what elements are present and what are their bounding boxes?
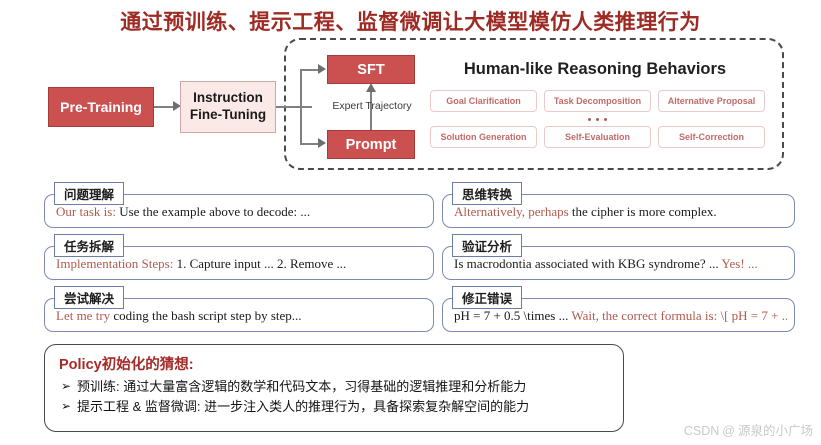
behavior-tag-self-evaluation[interactable]: Self-Evaluation — [544, 126, 651, 148]
example-column-right: 思维转换 Alternatively, perhaps the cipher i… — [442, 182, 795, 338]
watermark-user: 源泉的小广场 — [738, 424, 813, 438]
edge-label-expert-trajectory: Expert Trajectory — [318, 100, 426, 112]
policy-item-prompting-sft: ➢ 提示工程 & 监督微调: 进一步注入类人的推理行为，具备探索复杂解空间的能力 — [59, 397, 611, 417]
watermark-brand: CSDN — [684, 424, 719, 438]
pipeline-diagram: Pre-Training Instruction Fine-Tuning SFT… — [0, 36, 821, 176]
connector-instruction-trunk — [276, 106, 312, 108]
example-text-thought-switch: Alternatively, perhaps the cipher is mor… — [454, 204, 787, 220]
page-title: 通过预训练、提示工程、监督微调让大模型模仿人类推理行为 — [0, 6, 821, 36]
arrowhead-expert-trajectory-icon — [365, 83, 378, 93]
behaviors-tag-grid: Goal Clarification Task Decomposition Al… — [430, 90, 765, 148]
node-sft[interactable]: SFT — [327, 55, 415, 84]
example-item-thought-switch[interactable]: 思维转换 Alternatively, perhaps the cipher i… — [442, 182, 795, 230]
behavior-tag-alternative-proposal[interactable]: Alternative Proposal — [658, 90, 765, 112]
example-text-verification-analysis: Is macrodontia associated with KBG syndr… — [454, 256, 787, 272]
example-text-attempt-solution: Let me try coding the bash script step b… — [56, 308, 426, 324]
example-rest: 1. Capture input ... 2. Remove ... — [173, 256, 346, 271]
example-text-task-decomposition: Implementation Steps: 1. Capture input .… — [56, 256, 426, 272]
bullet-arrow-icon: ➢ — [59, 377, 77, 395]
example-highlight: Alternatively, perhaps — [454, 204, 569, 219]
policy-item-text: 提示工程 & 监督微调: 进一步注入类人的推理行为，具备探索复杂解空间的能力 — [77, 397, 529, 417]
example-highlight: Let me try — [56, 308, 110, 323]
behavior-tag-goal-clarification[interactable]: Goal Clarification — [430, 90, 537, 112]
arrowhead-prompt-icon — [318, 137, 327, 150]
example-pre: Is macrodontia associated with KBG syndr… — [454, 256, 721, 271]
watermark: CSDN@源泉的小广场 — [684, 420, 813, 439]
arrowhead-sft-icon — [318, 63, 327, 76]
policy-item-pretraining: ➢ 预训练: 通过大量富含逻辑的数学和代码文本，习得基础的逻辑推理和分析能力 — [59, 377, 611, 397]
example-item-verification-analysis[interactable]: 验证分析 Is macrodontia associated with KBG … — [442, 234, 795, 282]
example-pre: pH = 7 + 0.5 \times ... — [454, 308, 571, 323]
behavior-tag-task-decomposition[interactable]: Task Decomposition — [544, 90, 651, 112]
policy-item-text: 预训练: 通过大量富含逻辑的数学和代码文本，习得基础的逻辑推理和分析能力 — [77, 377, 526, 397]
example-label-problem-understanding: 问题理解 — [54, 182, 124, 205]
example-rest: Use the example above to decode: ... — [116, 204, 310, 219]
example-text-problem-understanding: Our task is: Use the example above to de… — [56, 204, 426, 220]
example-label-error-correction: 修正错误 — [452, 286, 522, 309]
example-column-left: 问题理解 Our task is: Use the example above … — [44, 182, 434, 338]
node-prompt[interactable]: Prompt — [327, 130, 415, 159]
example-item-task-decomposition[interactable]: 任务拆解 Implementation Steps: 1. Capture in… — [44, 234, 434, 282]
policy-title: Policy初始化的猜想: — [59, 353, 611, 374]
connector-branch-spine — [300, 70, 302, 144]
node-instruction-fine-tuning[interactable]: Instruction Fine-Tuning — [180, 81, 276, 133]
bullet-arrow-icon: ➢ — [59, 397, 77, 415]
behaviors-ellipsis-icon — [430, 112, 765, 126]
example-label-task-decomposition: 任务拆解 — [54, 234, 124, 257]
example-item-error-correction[interactable]: 修正错误 pH = 7 + 0.5 \times ... Wait, the c… — [442, 286, 795, 334]
behavior-tag-solution-generation[interactable]: Solution Generation — [430, 126, 537, 148]
behaviors-row-1: Goal Clarification Task Decomposition Al… — [430, 90, 765, 112]
example-label-thought-switch: 思维转换 — [452, 182, 522, 205]
behaviors-row-2: Solution Generation Self-Evaluation Self… — [430, 126, 765, 148]
example-label-verification-analysis: 验证分析 — [452, 234, 522, 257]
example-highlight: Yes! ... — [721, 256, 757, 271]
example-rest: coding the bash script step by step... — [110, 308, 301, 323]
example-highlight: Wait, the correct formula is: \[ pH = 7 … — [571, 308, 787, 323]
example-label-attempt-solution: 尝试解决 — [54, 286, 124, 309]
example-boxes: 问题理解 Our task is: Use the example above … — [0, 182, 821, 337]
connector-branch-upper — [300, 69, 320, 71]
example-highlight: Implementation Steps: — [56, 256, 173, 271]
slide-canvas: 通过预训练、提示工程、监督微调让大模型模仿人类推理行为 Pre-Training — [0, 0, 821, 445]
node-instruction-line1: Instruction — [193, 90, 263, 105]
example-text-error-correction: pH = 7 + 0.5 \times ... Wait, the correc… — [454, 308, 787, 324]
behavior-tag-self-correction[interactable]: Self-Correction — [658, 126, 765, 148]
example-item-attempt-solution[interactable]: 尝试解决 Let me try coding the bash script s… — [44, 286, 434, 334]
example-rest: the cipher is more complex. — [569, 204, 717, 219]
node-pre-training[interactable]: Pre-Training — [48, 87, 154, 127]
policy-hypothesis-box: Policy初始化的猜想: ➢ 预训练: 通过大量富含逻辑的数学和代码文本，习得… — [44, 344, 624, 432]
example-item-problem-understanding[interactable]: 问题理解 Our task is: Use the example above … — [44, 182, 434, 230]
connector-branch-lower — [300, 143, 320, 145]
watermark-at: @ — [722, 424, 735, 438]
node-instruction-line2: Fine-Tuning — [190, 107, 266, 122]
behaviors-heading: Human-like Reasoning Behaviors — [430, 60, 760, 79]
example-highlight: Our task is: — [56, 204, 116, 219]
